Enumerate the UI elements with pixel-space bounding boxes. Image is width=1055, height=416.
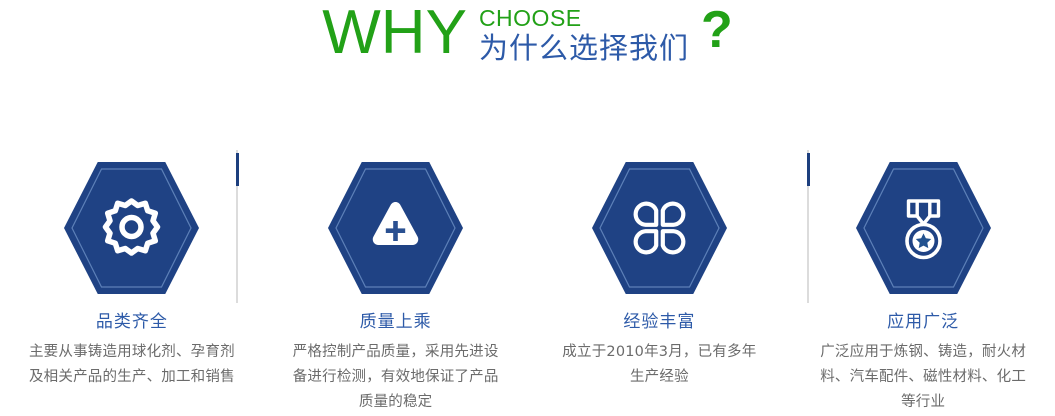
heading-choose: CHOOSE	[479, 6, 689, 31]
feature-card-title: 质量上乘	[360, 312, 432, 332]
feature-card-title: 品类齐全	[96, 312, 168, 332]
hexagon-shape	[592, 158, 727, 298]
feature-card-description: 广泛应用于炼钢、铸造，耐火材料、汽车配件、磁性材料、化工等行业	[819, 340, 1027, 415]
card-divider-1	[236, 150, 238, 303]
feature-card-title: 经验丰富	[623, 312, 695, 332]
feature-card-4[interactable]: 应用广泛 广泛应用于炼钢、铸造，耐火材料、汽车配件、磁性材料、化工等行业	[791, 150, 1055, 416]
feature-card-3[interactable]: 经验丰富 成立于2010年3月，已有多年生产经验	[528, 150, 792, 416]
feature-card-description: 成立于2010年3月，已有多年生产经验	[555, 340, 763, 390]
heading-chinese-title: 为什么选择我们	[479, 31, 689, 65]
heading-text-stack: CHOOSE 为什么选择我们	[479, 2, 689, 65]
hexagon-badge-3	[592, 158, 727, 298]
hexagon-badge-2	[328, 158, 463, 298]
feature-cards-row: 品类齐全 主要从事铸造用球化剂、孕育剂及相关产品的生产、加工和销售 质量上乘 严…	[0, 150, 1055, 416]
feature-card-1[interactable]: 品类齐全 主要从事铸造用球化剂、孕育剂及相关产品的生产、加工和销售	[0, 150, 264, 416]
feature-card-2[interactable]: 质量上乘 严格控制产品质量，采用先进设备进行检测，有效地保证了产品质量的稳定	[264, 150, 528, 416]
heading-question-mark: ?	[701, 2, 733, 70]
feature-card-description: 严格控制产品质量，采用先进设备进行检测，有效地保证了产品质量的稳定	[292, 340, 500, 415]
section-heading: WHY CHOOSE 为什么选择我们 ?	[0, 0, 1055, 90]
feature-card-description: 主要从事铸造用球化剂、孕育剂及相关产品的生产、加工和销售	[28, 340, 236, 390]
hexagon-badge-4	[856, 158, 991, 298]
hexagon-shape	[64, 158, 199, 298]
heading-why: WHY	[322, 2, 467, 64]
heading-inner: WHY CHOOSE 为什么选择我们 ?	[322, 0, 732, 70]
hexagon-badge-1	[64, 158, 199, 298]
feature-card-title: 应用广泛	[887, 312, 959, 332]
hexagon-shape	[328, 158, 463, 298]
hexagon-shape	[856, 158, 991, 298]
